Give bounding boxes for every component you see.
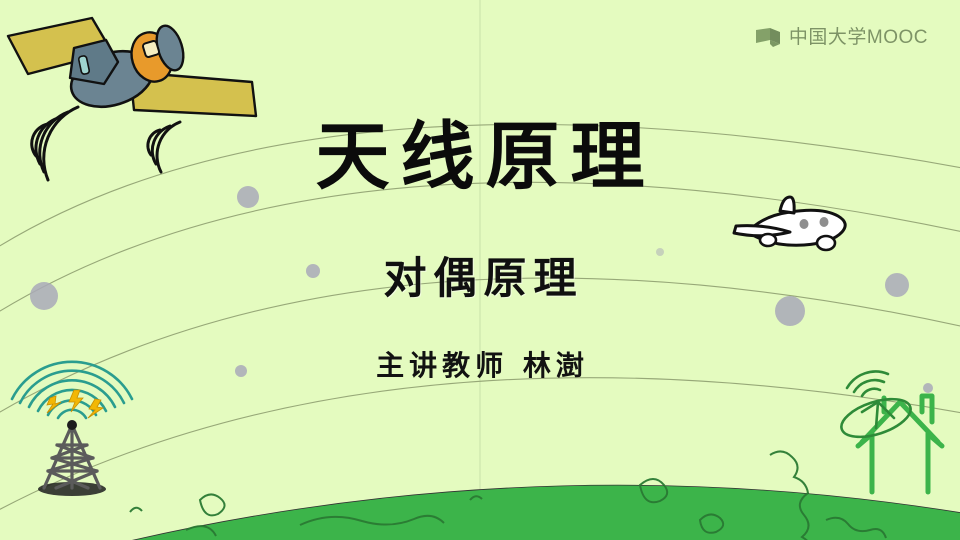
satellite-window [142,40,159,57]
presenter-label: 主讲教师 林澍 [0,352,960,380]
brand-watermark: 中国大学MOOC [756,28,928,47]
airplane-window-1 [800,219,809,229]
lesson-subtitle: 对偶原理 [0,258,960,301]
open-book-logo-icon [756,28,782,47]
airplane-window-2 [820,217,829,227]
brand-name: 中国大学MOOC [789,28,928,47]
page-title: 天线原理 [0,120,960,194]
tower-beacon [67,420,77,430]
airplane-engine-2 [817,236,835,250]
airplane-engine-1 [760,234,776,246]
presentation-slide: 天线原理 对偶原理 主讲教师 林澍 中国大学MOOC [0,0,960,540]
